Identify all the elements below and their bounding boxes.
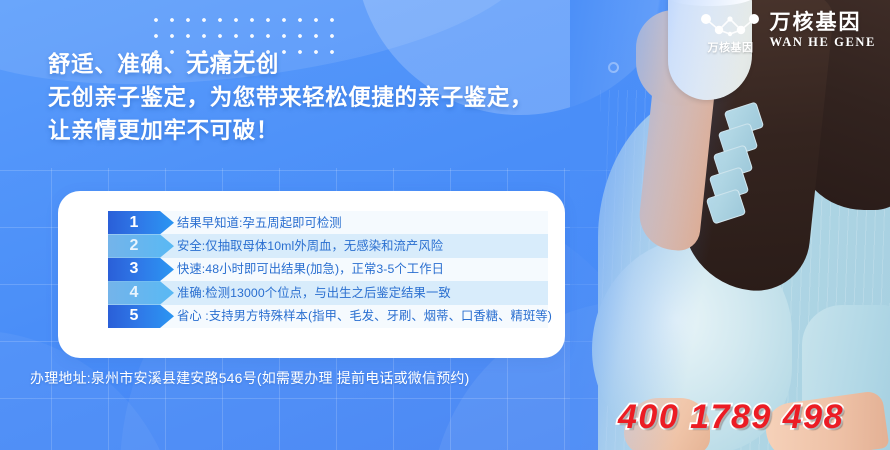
feature-number: 1 bbox=[130, 215, 143, 231]
features-card: 1 结果早知道:孕五周起即可检测 2 安全:仅抽取母体10ml外周血，无感染和流… bbox=[58, 191, 565, 358]
promo-banner: 万核基因 万核基因 WAN HE GENE 舒适、准确、无痛无创 无创亲子鉴定，… bbox=[0, 0, 890, 450]
brand-name-cn: 万核基因 bbox=[769, 11, 861, 34]
feature-text: 省心 :支持男方特殊样本(指甲、毛发、牙刷、烟蒂、口香糖、精斑等) bbox=[164, 310, 552, 322]
feature-number-badge: 5 bbox=[108, 305, 164, 328]
brand-logo[interactable]: 万核基因 万核基因 WAN HE GENE bbox=[699, 10, 876, 52]
list-item: 1 结果早知道:孕五周起即可检测 bbox=[108, 211, 548, 234]
headline-line-3: 让亲情更加牢不可破！ bbox=[48, 114, 533, 147]
list-item: 5 省心 :支持男方特殊样本(指甲、毛发、牙刷、烟蒂、口香糖、精斑等) bbox=[108, 305, 548, 328]
feature-number: 5 bbox=[130, 308, 143, 324]
hotline-phone-number[interactable]: 400 1789 498 bbox=[618, 400, 844, 434]
feature-text: 快速:48小时即可出结果(加急)，正常3-5个工作日 bbox=[164, 263, 444, 275]
feature-text: 安全:仅抽取母体10ml外周血，无感染和流产风险 bbox=[164, 240, 443, 252]
feature-number: 2 bbox=[130, 238, 143, 254]
feature-number-badge: 4 bbox=[108, 281, 164, 304]
list-item: 3 快速:48小时即可出结果(加急)，正常3-5个工作日 bbox=[108, 258, 548, 281]
feature-text: 结果早知道:孕五周起即可检测 bbox=[164, 217, 342, 229]
office-address: 办理地址:泉州市安溪县建安路546号(如需要办理 提前电话或微信预约) bbox=[30, 370, 469, 387]
brand-wordmark: 万核基因 WAN HE GENE bbox=[769, 11, 876, 50]
pregnant-woman-photo bbox=[570, 0, 890, 450]
feature-number-badge: 2 bbox=[108, 234, 164, 257]
feature-number-badge: 3 bbox=[108, 258, 164, 281]
features-list: 1 结果早知道:孕五周起即可检测 2 安全:仅抽取母体10ml外周血，无感染和流… bbox=[108, 211, 548, 328]
headline-line-2: 无创亲子鉴定，为您带来轻松便捷的亲子鉴定， bbox=[48, 81, 533, 114]
molecule-dna-icon: 万核基因 bbox=[699, 10, 761, 52]
feature-number-badge: 1 bbox=[108, 211, 164, 234]
feature-number: 4 bbox=[130, 285, 143, 301]
headline: 舒适、准确、无痛无创 无创亲子鉴定，为您带来轻松便捷的亲子鉴定， 让亲情更加牢不… bbox=[48, 48, 533, 147]
feature-number: 3 bbox=[130, 261, 143, 277]
list-item: 4 准确:检测13000个位点，与出生之后鉴定结果一致 bbox=[108, 281, 548, 304]
photo-blend-overlay bbox=[570, 0, 890, 450]
list-item: 2 安全:仅抽取母体10ml外周血，无感染和流产风险 bbox=[108, 234, 548, 257]
logo-mark-label: 万核基因 bbox=[699, 39, 761, 55]
headline-line-1: 舒适、准确、无痛无创 bbox=[48, 48, 533, 81]
brand-name-en: WAN HE GENE bbox=[769, 34, 876, 50]
feature-text: 准确:检测13000个位点，与出生之后鉴定结果一致 bbox=[164, 287, 451, 299]
